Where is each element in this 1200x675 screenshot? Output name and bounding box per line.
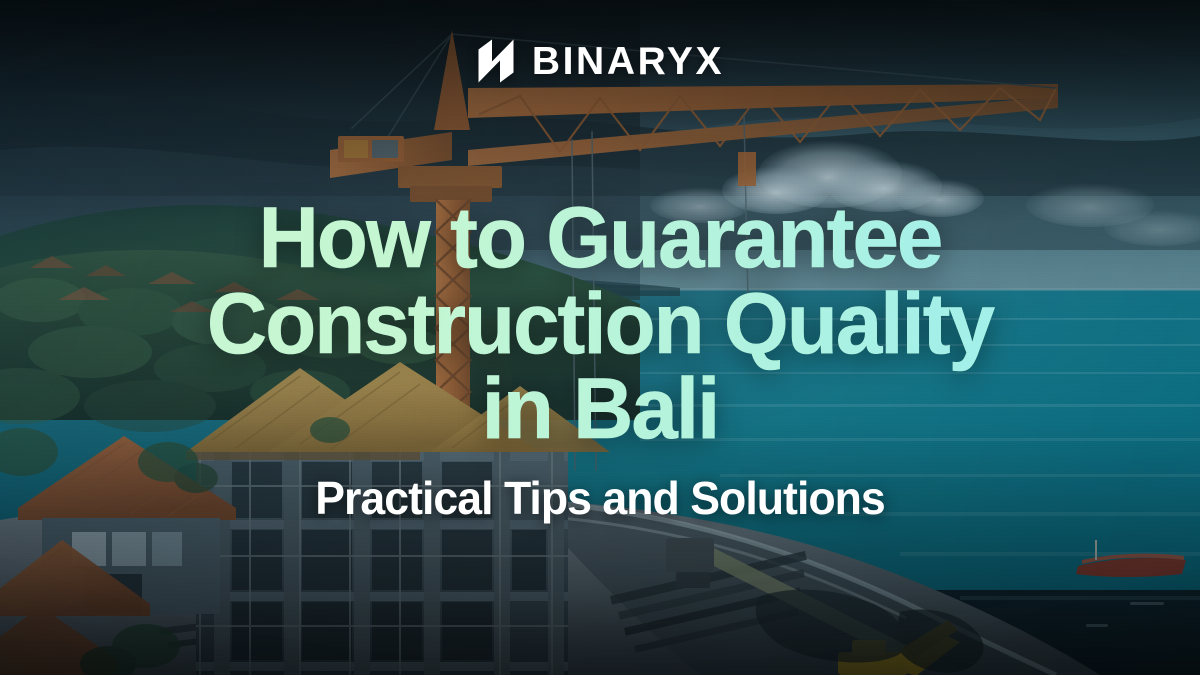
- hero-text-block: How to Guarantee Construction Quality in…: [0, 196, 1200, 521]
- hero-banner: BINARYX How to Guarantee Construction Qu…: [0, 0, 1200, 675]
- page-title-line-2: Construction Quality: [18, 282, 1182, 368]
- page-title: How to Guarantee Construction Quality in…: [18, 196, 1182, 453]
- page-title-line-1: How to Guarantee: [18, 196, 1182, 282]
- binaryx-chevron-mark-icon: [476, 38, 516, 84]
- brand-lockup: BINARYX: [0, 38, 1200, 84]
- brand-name: BINARYX: [532, 42, 724, 81]
- page-title-line-3: in Bali: [18, 367, 1182, 453]
- page-subtitle: Practical Tips and Solutions: [18, 475, 1182, 521]
